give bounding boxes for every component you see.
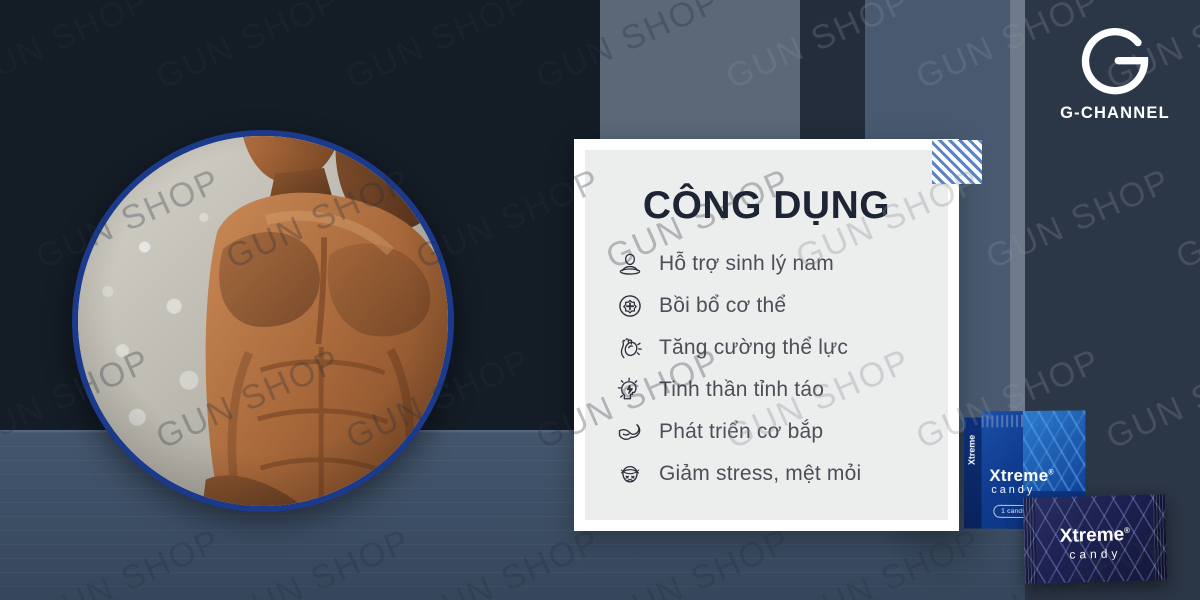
- feature-item: Tinh thần tỉnh táo: [615, 375, 922, 405]
- hero-photo: [78, 136, 448, 506]
- feature-item: Giảm stress, mệt mỏi: [615, 459, 922, 489]
- feature-item: Phát triển cơ bắp: [615, 417, 922, 447]
- product-sachet-subtitle: candy: [1024, 546, 1166, 562]
- person-bust-icon: [615, 249, 645, 279]
- product-sachet: Xtreme® candy: [1023, 494, 1167, 584]
- feature-label: Bồi bổ cơ thể: [659, 294, 786, 318]
- product-sachet-brand-x: X: [1059, 526, 1072, 547]
- product-box-brand-rest: treme: [1001, 466, 1049, 485]
- photo-vignette: [78, 136, 448, 506]
- feature-label: Tăng cường thể lực: [659, 336, 848, 360]
- feature-label: Giảm stress, mệt mỏi: [659, 462, 861, 486]
- feature-item: Hỗ trợ sinh lý nam: [615, 249, 922, 279]
- promo-banner: CÔNG DỤNG Hỗ trợ sinh lý nam: [0, 0, 1200, 600]
- brand-logo: G-CHANNEL: [1040, 18, 1190, 128]
- product-box-subtitle: candy: [991, 485, 1035, 496]
- product-box-brand-x: X: [989, 466, 1000, 485]
- feature-item: Tăng cường thể lực: [615, 333, 922, 363]
- diagonal-hatch-decoration: [932, 140, 982, 184]
- product-box-side-brand: Xtreme: [967, 435, 977, 465]
- flexed-bicep-icon: [615, 417, 645, 447]
- feature-item: Bồi bổ cơ thể: [615, 291, 922, 321]
- registered-mark: ®: [1124, 526, 1130, 535]
- product-sachet-brand-rest: treme: [1072, 524, 1124, 546]
- product-sachet-body: Xtreme® candy: [1023, 494, 1167, 584]
- medical-plus-icon: [615, 291, 645, 321]
- feature-list: Hỗ trợ sinh lý nam Bồi bổ cơ thể: [611, 249, 922, 489]
- feature-label: Hỗ trợ sinh lý nam: [659, 252, 834, 276]
- benefits-card: CÔNG DỤNG Hỗ trợ sinh lý nam: [574, 139, 959, 531]
- hero-photo-ring: [72, 130, 454, 512]
- product-box-brand: Xtreme®: [989, 467, 1054, 484]
- lightbulb-head-icon: [615, 375, 645, 405]
- benefits-card-inner: CÔNG DỤNG Hỗ trợ sinh lý nam: [585, 150, 948, 520]
- registered-mark: ®: [1048, 469, 1053, 476]
- card-title: CÔNG DỤNG: [611, 186, 922, 225]
- stressed-face-icon: [615, 459, 645, 489]
- letter-g-icon: [1074, 18, 1156, 100]
- feature-label: Tinh thần tỉnh táo: [659, 378, 824, 402]
- brand-logo-name: G-CHANNEL: [1060, 104, 1170, 123]
- hand-hold-icon: [615, 333, 645, 363]
- product-sachet-brand: Xtreme®: [1024, 524, 1166, 547]
- feature-label: Phát triển cơ bắp: [659, 420, 823, 444]
